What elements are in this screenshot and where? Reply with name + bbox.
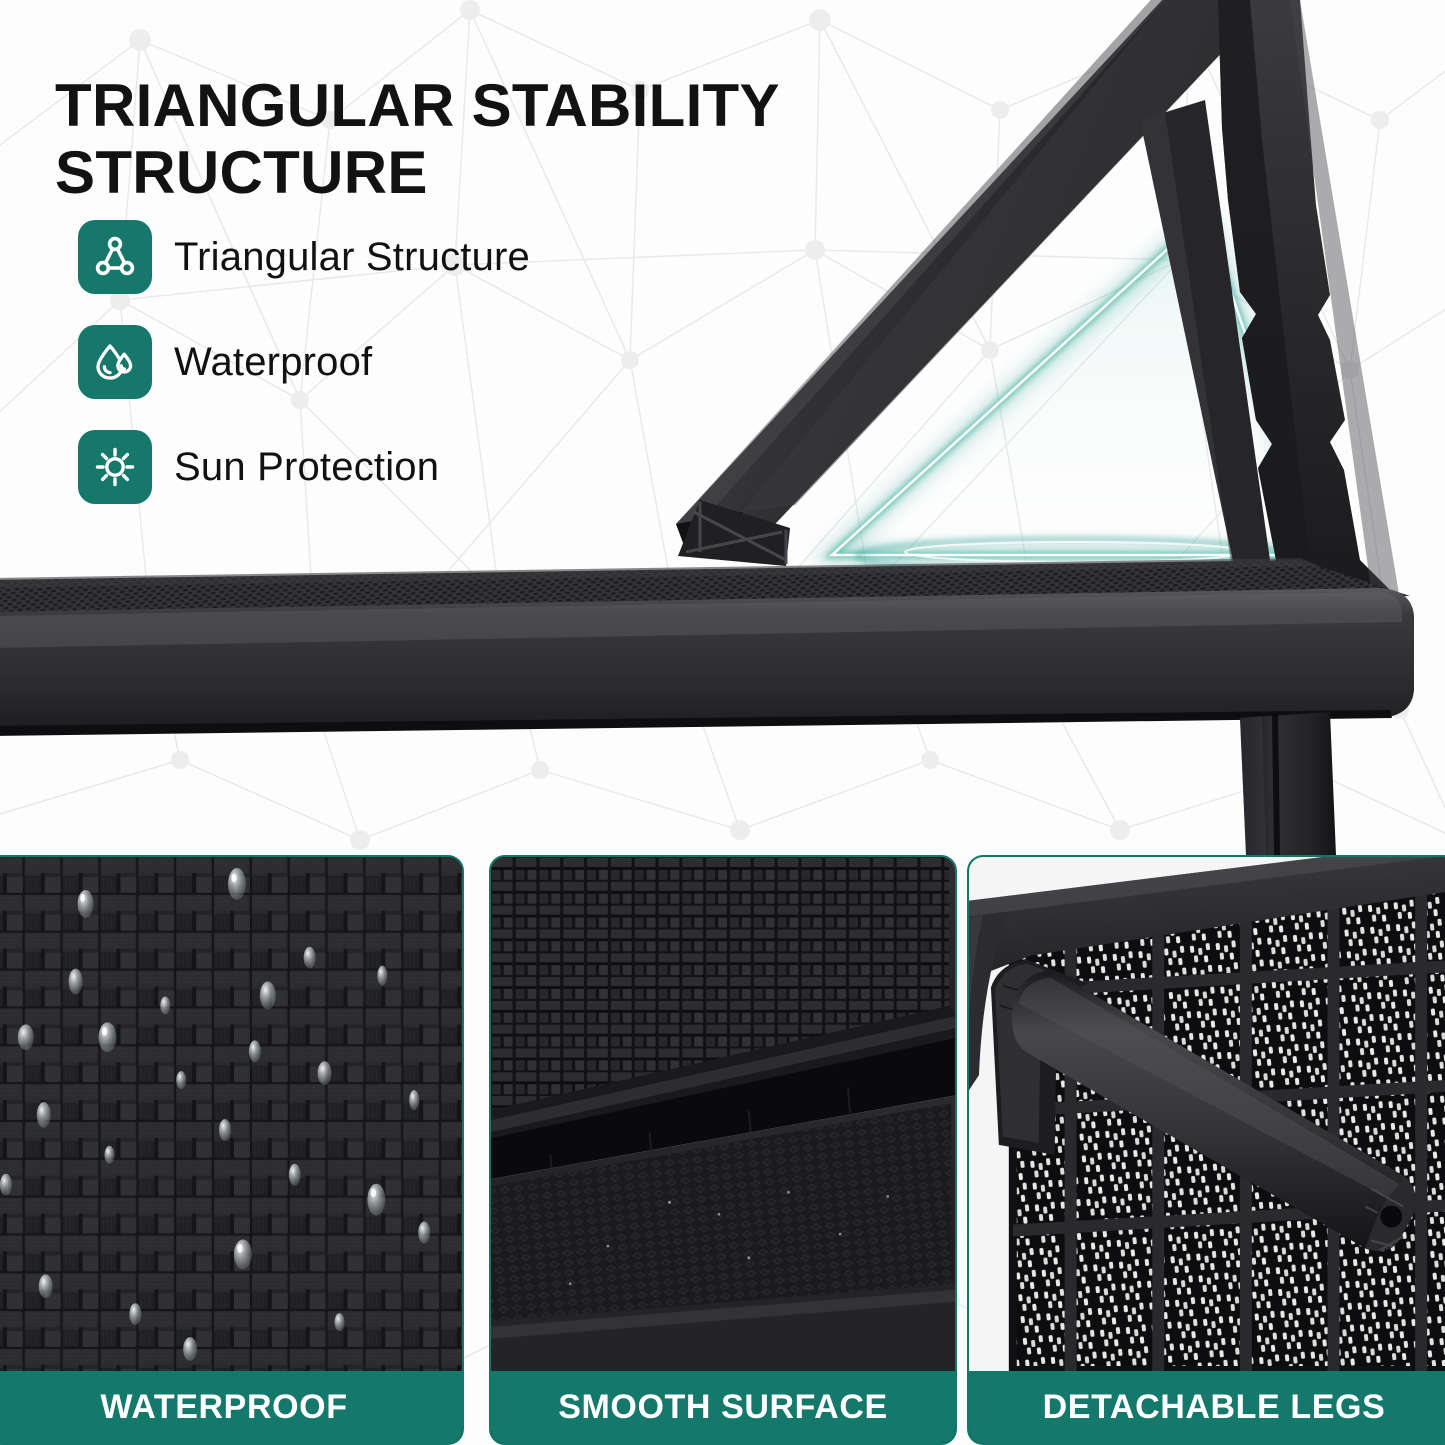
detail-panel-row: WATERPROOF (0, 855, 1445, 1445)
rattan-weave-with-water-droplets (0, 857, 462, 1371)
detachable-leg (1240, 712, 1336, 855)
seat-frame-rail (0, 558, 1414, 736)
waterproof-panel: WATERPROOF (0, 855, 464, 1445)
infographic-stage: TRIANGULAR STABILITY STRUCTURE Triangula… (0, 0, 1445, 1445)
panel-caption: WATERPROOF (0, 1371, 462, 1443)
leg-detached-from-ribbed-underside (969, 857, 1445, 1371)
detachable-legs-panel: DETACHABLE LEGS (967, 855, 1445, 1445)
feature-label: Triangular Structure (174, 235, 530, 280)
panel-caption: DETACHABLE LEGS (969, 1371, 1445, 1443)
smooth-surface-panel: SMOOTH SURFACE (489, 855, 957, 1445)
feature-item-waterproof: Waterproof (78, 323, 530, 401)
feature-label: Sun Protection (174, 445, 439, 490)
water-droplets-icon (78, 325, 152, 399)
title-line-1: TRIANGULAR STABILITY (55, 72, 780, 139)
triangle-nodes-icon (78, 220, 152, 294)
raised-backrest-over-textured-seat (491, 857, 955, 1371)
panel-caption: SMOOTH SURFACE (491, 1371, 955, 1443)
feature-list: Triangular Structure Waterproof (78, 218, 530, 533)
page-title: TRIANGULAR STABILITY STRUCTURE (55, 72, 855, 206)
feature-item-triangular-structure: Triangular Structure (78, 218, 530, 296)
title-line-2: STRUCTURE (55, 139, 855, 206)
feature-item-sun-protection: Sun Protection (78, 428, 530, 506)
sun-icon (78, 430, 152, 504)
feature-label: Waterproof (174, 340, 372, 385)
